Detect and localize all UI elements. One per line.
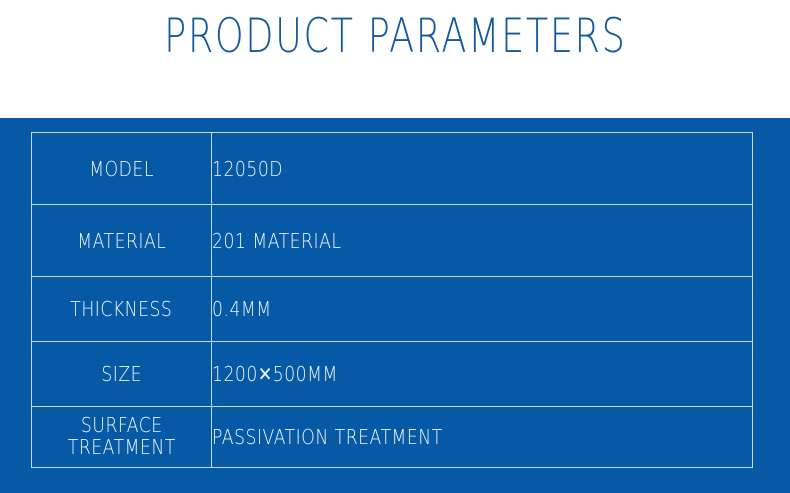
table-cell-label: MODEL [32,133,212,205]
spec-value-size: 1200✕500MM [212,362,338,386]
product-parameters-page: PRODUCT PARAMETERS MODEL 12050D MATERIAL [0,0,790,493]
product-parameters-table: MODEL 12050D MATERIAL 201 MATERIAL [31,132,753,468]
page-header: PRODUCT PARAMETERS [0,0,790,118]
table-row: SIZE 1200✕500MM [32,342,753,407]
table-cell-label: SIZE [32,342,212,407]
page-title: PRODUCT PARAMETERS [164,8,626,66]
spec-value-surface-treatment: PASSIVATION TREATMENT [212,425,443,449]
table-cell-value: 12050D [212,133,753,205]
table-cell-label: THICKNESS [32,277,212,342]
specs-panel: MODEL 12050D MATERIAL 201 MATERIAL [0,118,790,493]
table-cell-label: SURFACE TREATMENT [32,407,212,468]
spec-label-size: SIZE [101,364,142,386]
spec-value-material: 201 MATERIAL [212,229,342,253]
spec-label-model: MODEL [89,159,154,181]
table-row: SURFACE TREATMENT PASSIVATION TREATMENT [32,407,753,468]
table-row: MATERIAL 201 MATERIAL [32,205,753,277]
table-cell-value: 201 MATERIAL [212,205,753,277]
table-cell-value: 1200✕500MM [212,342,753,407]
table-cell-value: PASSIVATION TREATMENT [212,407,753,468]
spec-value-model: 12050D [212,157,283,181]
table-row: MODEL 12050D [32,133,753,205]
spec-label-surface-treatment: SURFACE TREATMENT [67,415,175,458]
table-cell-value: 0.4MM [212,277,753,342]
table-cell-label: MATERIAL [32,205,212,277]
spec-label-thickness: THICKNESS [70,299,172,321]
spec-label-material: MATERIAL [77,231,166,253]
table-row: THICKNESS 0.4MM [32,277,753,342]
spec-value-thickness: 0.4MM [212,297,272,321]
